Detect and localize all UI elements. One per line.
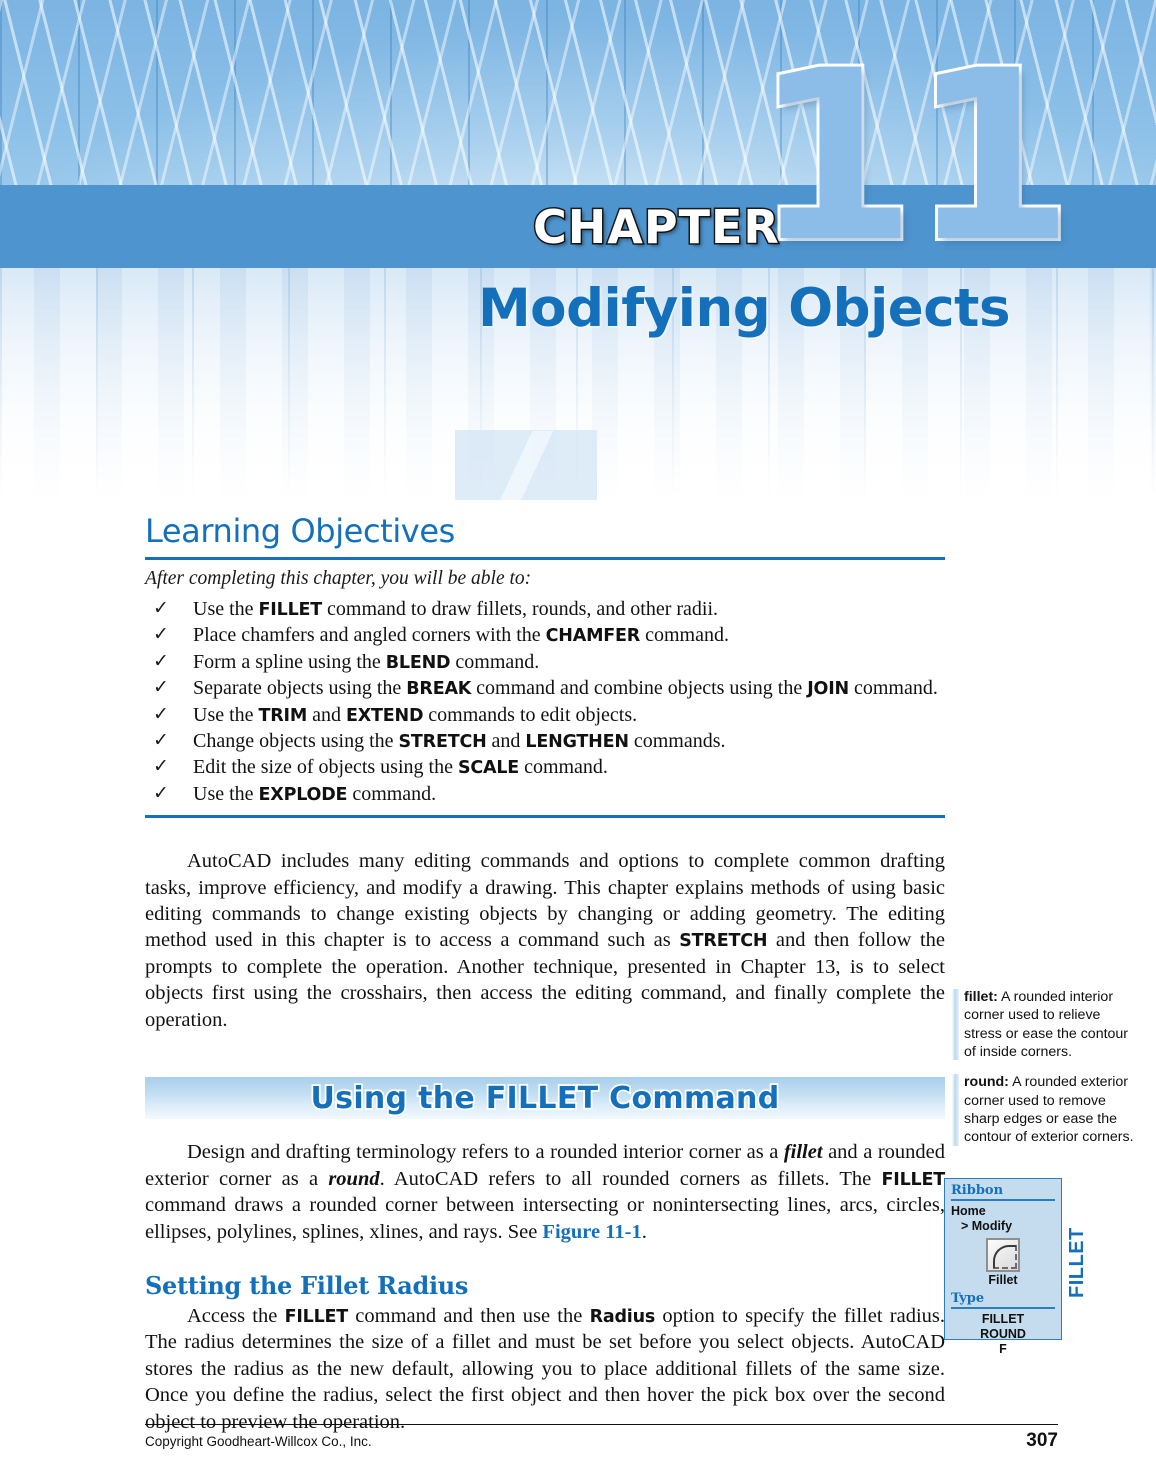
- command-name: EXTEND: [346, 706, 423, 726]
- objective-text: Form a spline using the: [193, 651, 386, 673]
- command-name: FILLET: [259, 600, 322, 620]
- objective-text: command and combine objects using the: [471, 677, 807, 699]
- term-round: round: [328, 1168, 379, 1190]
- list-item: ✓Use the EXPLODE command.: [145, 782, 945, 807]
- command-name: LENGTHEN: [525, 732, 628, 752]
- list-item: ✓Edit the size of objects using the SCAL…: [145, 755, 945, 780]
- command-name: BLEND: [386, 653, 451, 673]
- objective-text: Use the: [193, 598, 259, 620]
- command-name: STRETCH: [399, 732, 487, 752]
- ribbon-rule: [951, 1199, 1055, 1201]
- list-item: ✓Separate objects using the BREAK comman…: [145, 676, 945, 701]
- list-item: ✓Use the FILLET command to draw fillets,…: [145, 597, 945, 622]
- chapter-word-wrap: CHAPTER: [0, 185, 1156, 268]
- objective-text: command.: [640, 624, 729, 646]
- definition-term: round:: [964, 1074, 1009, 1090]
- checkmark-icon: ✓: [153, 702, 169, 726]
- figure-reference-link[interactable]: Figure 11-1: [542, 1221, 641, 1243]
- page-number: 307: [1026, 1430, 1058, 1452]
- ribbon-label: Ribbon: [951, 1183, 1061, 1198]
- section-paragraph: Design and drafting terminology refers t…: [145, 1139, 945, 1245]
- paragraph-text: Access the: [187, 1305, 285, 1327]
- definition-term: fillet:: [964, 989, 998, 1005]
- chapter-word: CHAPTER: [533, 200, 780, 254]
- option-name: Radius: [590, 1307, 656, 1327]
- type-entry-2: F: [945, 1342, 1061, 1357]
- section-heading-text: Using the FILLET Command: [311, 1081, 780, 1116]
- learning-objectives-intro: After completing this chapter, you will …: [145, 568, 945, 590]
- checkmark-icon: ✓: [153, 649, 169, 673]
- objective-text: command.: [450, 651, 539, 673]
- ghost-thumbnail-image: [455, 430, 597, 500]
- checkmark-icon: ✓: [153, 728, 169, 752]
- fillet-icon[interactable]: [986, 1238, 1020, 1272]
- learning-objectives-rule-top: [145, 557, 945, 560]
- section-heading-bar: Using the FILLET Command: [145, 1077, 945, 1119]
- objective-text: and: [487, 730, 526, 752]
- learning-objectives-heading: Learning Objectives: [145, 512, 945, 550]
- objective-text: command.: [849, 677, 938, 699]
- command-reference: Ribbon Home > Modify Fillet Type FILLET …: [944, 1178, 1156, 1346]
- objective-text: command.: [519, 756, 608, 778]
- type-rule: [951, 1307, 1055, 1309]
- fillet-icon-label: Fillet: [945, 1273, 1061, 1287]
- list-item: ✓Form a spline using the BLEND command.: [145, 650, 945, 675]
- objective-text: Place chamfers and angled corners with t…: [193, 624, 546, 646]
- objective-text: command to draw fillets, rounds, and oth…: [322, 598, 718, 620]
- objective-text: commands to edit objects.: [423, 704, 637, 726]
- type-entry-0: FILLET: [945, 1312, 1061, 1327]
- copyright-notice: Copyright Goodheart-Willcox Co., Inc.: [145, 1434, 372, 1449]
- definition-round: round: A rounded exterior corner used to…: [952, 1073, 1142, 1146]
- chapter-opener: 11 CHAPTER Modifying Objects: [0, 0, 1156, 500]
- objective-text: and: [307, 704, 346, 726]
- objective-text: Edit the size of objects using the: [193, 756, 458, 778]
- page-footer: Copyright Goodheart-Willcox Co., Inc. 30…: [145, 1424, 1058, 1452]
- command-name: STRETCH: [679, 931, 767, 951]
- checkmark-icon: ✓: [153, 596, 169, 620]
- objective-text: Use the: [193, 783, 259, 805]
- footer-rule: [145, 1424, 1058, 1425]
- term-fillet: fillet: [784, 1141, 823, 1163]
- chapter-title: Modifying Objects: [0, 278, 1010, 339]
- command-name: JOIN: [807, 679, 849, 699]
- paragraph-text: Design and drafting terminology refers t…: [187, 1141, 784, 1163]
- objective-text: commands.: [629, 730, 726, 752]
- learning-objectives-list: ✓Use the FILLET command to draw fillets,…: [145, 597, 945, 807]
- vertical-command-label: FILLET: [1066, 1178, 1089, 1298]
- paragraph-text: . AutoCAD refers to all rounded corners …: [380, 1168, 882, 1190]
- command-name: CHAMFER: [546, 626, 640, 646]
- list-item: ✓Change objects using the STRETCH and LE…: [145, 729, 945, 754]
- command-reference-box: Ribbon Home > Modify Fillet Type FILLET …: [944, 1178, 1062, 1340]
- checkmark-icon: ✓: [153, 675, 169, 699]
- objective-text: Use the: [193, 704, 259, 726]
- paragraph-text: command and then use the: [348, 1305, 590, 1327]
- command-name: FILLET: [285, 1307, 348, 1327]
- checkmark-icon: ✓: [153, 622, 169, 646]
- intro-paragraph: AutoCAD includes many editing commands a…: [145, 848, 945, 1033]
- command-name: SCALE: [458, 758, 519, 778]
- type-label: Type: [951, 1291, 1061, 1306]
- objective-text: Change objects using the: [193, 730, 399, 752]
- ribbon-panel: > Modify: [961, 1219, 1061, 1234]
- ribbon-tab: Home: [951, 1204, 1061, 1219]
- main-text-column: Learning Objectives After completing thi…: [145, 512, 945, 1435]
- checkmark-icon: ✓: [153, 754, 169, 778]
- subsection-heading: Setting the Fillet Radius: [145, 1271, 945, 1300]
- paragraph-text: .: [642, 1221, 647, 1243]
- objective-text: command.: [347, 783, 436, 805]
- command-name: EXPLODE: [259, 785, 348, 805]
- margin-definitions: fillet: A rounded interior corner used t…: [952, 988, 1142, 1159]
- subsection-paragraph: Access the FILLET command and then use t…: [145, 1303, 945, 1435]
- command-name: BREAK: [406, 679, 471, 699]
- objective-text: Separate objects using the: [193, 677, 406, 699]
- definition-fillet: fillet: A rounded interior corner used t…: [952, 988, 1142, 1061]
- command-name: TRIM: [259, 706, 308, 726]
- list-item: ✓Use the TRIM and EXTEND commands to edi…: [145, 703, 945, 728]
- type-entry-1: ROUND: [945, 1327, 1061, 1342]
- list-item: ✓Place chamfers and angled corners with …: [145, 623, 945, 648]
- checkmark-icon: ✓: [153, 781, 169, 805]
- command-name: FILLET: [882, 1170, 945, 1190]
